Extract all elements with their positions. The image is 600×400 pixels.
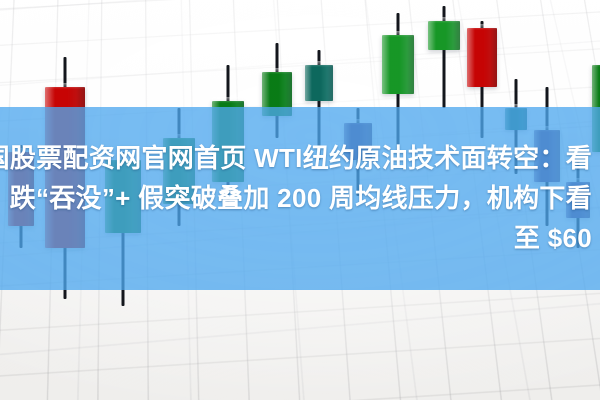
candle-body-bullish [212,101,244,182]
candle-body-bearish [534,130,560,181]
candle-top-bevel [8,148,34,154]
candlestick [45,0,85,400]
candle-top-bevel [163,134,195,140]
candle-body-bearish [45,87,85,248]
candlestick [8,0,34,400]
candle-top-bevel [382,31,414,37]
chart-background: 中国股票配资网官网首页 WTI纽约原油技术面转空：看跌“吞没”+ 假突破叠加 2… [0,0,600,400]
candle-top-bevel [105,156,141,162]
candle-top-bevel [344,119,372,125]
candlestick [163,0,195,400]
candle-body-bearish [566,182,590,219]
candle-body-bullish [262,72,292,116]
candlestick [566,0,590,400]
candlestick [428,0,460,400]
candle-top-bevel [305,61,333,67]
candle-top-bevel [428,17,460,23]
candlestick [505,0,527,400]
candlestick [467,0,497,400]
candle-top-bevel [45,83,85,89]
candle-body-bearish [8,152,34,225]
candlestick [344,0,372,400]
candle-top-bevel [505,104,527,110]
candle-top-bevel [566,178,590,184]
candlestick [305,0,333,400]
candle-body-bearish [505,108,527,130]
candlestick-series [0,0,600,400]
candlestick [105,0,141,400]
candle-body-bearish [467,28,497,87]
candle-body-bullish [382,35,414,94]
candle-body-bearish [344,123,372,160]
candle-top-bevel [592,61,600,67]
candle-body-bullish [163,138,195,204]
candlestick [534,0,560,400]
candle-top-bevel [212,97,244,103]
candle-top-bevel [534,126,560,132]
candle-body-bullish [105,160,141,233]
candlestick [212,0,244,400]
candle-top-bevel [262,68,292,74]
candlestick [262,0,292,400]
candle-body-bullish [305,65,333,102]
candle-body-bullish [428,21,460,50]
candlestick [382,0,414,400]
candle-body-bullish [592,65,600,153]
candlestick [592,0,600,400]
candle-top-bevel [467,24,497,30]
